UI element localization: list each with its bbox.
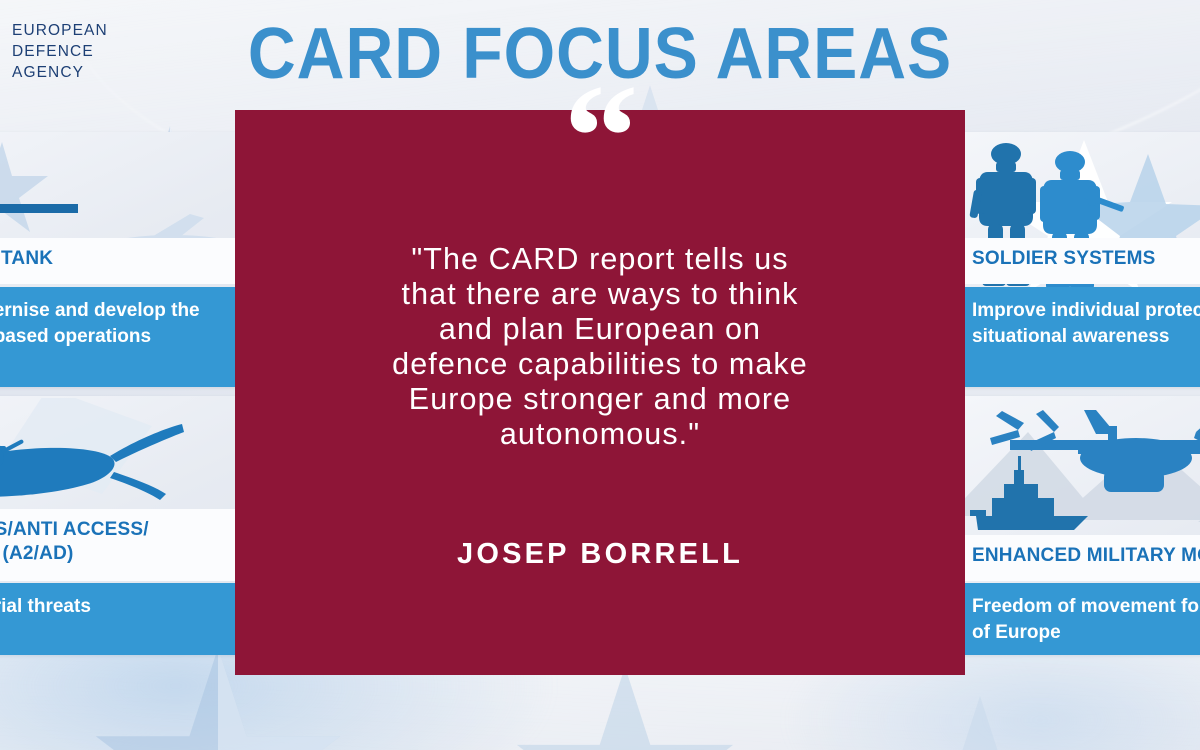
card-description: Freedom of movement for the security of … (958, 583, 1200, 655)
background-star-icon (880, 690, 1080, 750)
focus-card-soldier-systems[interactable]: SOLDIER SYSTEMS Improve individual prote… (958, 132, 1200, 387)
card-description: Countering aerial threats (0, 583, 242, 655)
quote-card: “ "The CARD report tells us that there a… (235, 110, 965, 675)
focus-card-enhanced-military-mobility[interactable]: ENHANCED MILITARY MOBILITY Freedom of mo… (958, 396, 1200, 655)
card-description: Improve individual protection & situatio… (958, 287, 1200, 387)
focus-card-counter-uas[interactable]: COUNTER UAS/ANTI ACCESS/ AREA DENIAL (A2… (0, 396, 242, 655)
page-title: CARD FOCUS AREAS (48, 8, 1152, 100)
infographic-canvas: EUROPEAN DEFENCE AGENCY CARD FOCUS AREAS (0, 0, 1200, 750)
quote-text: "The CARD report tells us that there are… (275, 242, 925, 452)
quote-author: JOSEP BORRELL (235, 537, 965, 571)
card-label: SOLDIER SYSTEMS (958, 238, 1200, 284)
transport-icon (958, 396, 1200, 544)
card-label: ENHANCED MILITARY MOBILITY (958, 535, 1200, 581)
card-label: COUNTER UAS/ANTI ACCESS/ AREA DENIAL (A2… (0, 509, 242, 581)
focus-card-main-battle-tank[interactable]: MAIN BATTLE TANK Maintain, modernise and… (0, 132, 242, 387)
card-description: Maintain, modernise and develop the futu… (0, 287, 242, 387)
card-label: MAIN BATTLE TANK (0, 238, 242, 284)
